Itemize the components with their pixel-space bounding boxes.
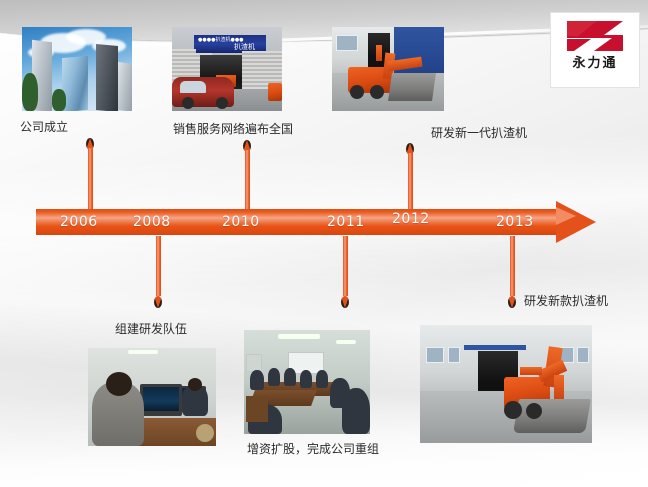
timeline-year-2008: 2008 xyxy=(133,214,171,230)
timeline-year-2012: 2012 xyxy=(392,211,430,227)
company-logo: 永力通 xyxy=(550,12,640,88)
timeline-bar xyxy=(36,209,560,235)
caption-rnd-team: 组建研发队伍 xyxy=(115,320,187,337)
logo-brand-text: 永力通 xyxy=(551,56,639,72)
connector-arrow-2012 xyxy=(406,143,415,210)
connector-arrow-2010 xyxy=(243,140,252,210)
caption-sales-network: 销售服务网络遍布全国 xyxy=(173,120,293,137)
photo-new-generation-machine xyxy=(332,27,444,111)
connector-arrow-2006 xyxy=(86,138,95,210)
caption-new-model-machine: 研发新款扒渣机 xyxy=(524,292,608,309)
timeline-year-2010: 2010 xyxy=(222,214,260,230)
photo-skyscrapers-blue-sky xyxy=(22,27,132,111)
caption-company-founded: 公司成立 xyxy=(20,118,68,135)
caption-capital-increase: 增资扩股，完成公司重组 xyxy=(247,440,379,457)
timeline-year-2013: 2013 xyxy=(496,214,534,230)
connector-arrow-2008 xyxy=(154,236,163,308)
photo-dealer-storefront: ●●●●扒渣机●●● 扒渣机 xyxy=(172,27,282,111)
photo-engineers-at-computers xyxy=(88,348,216,446)
timeline-arrow: 2006 2008 2010 2011 2012 2013 xyxy=(36,206,596,238)
connector-arrow-2011 xyxy=(341,236,350,308)
logo-mark-icon xyxy=(564,17,626,55)
timeline-year-2011: 2011 xyxy=(327,214,365,230)
photo-new-model-machine-factory xyxy=(420,325,592,443)
connector-arrow-2013 xyxy=(508,236,517,308)
timeline-year-2006: 2006 xyxy=(60,214,98,230)
slide-canvas: 永力通 ●●●●扒渣机●●● 扒渣机 xyxy=(0,0,648,487)
caption-new-generation-machine: 研发新一代扒渣机 xyxy=(431,124,527,141)
photo-meeting-room xyxy=(244,330,370,434)
timeline-arrowhead-highlight xyxy=(556,207,576,225)
